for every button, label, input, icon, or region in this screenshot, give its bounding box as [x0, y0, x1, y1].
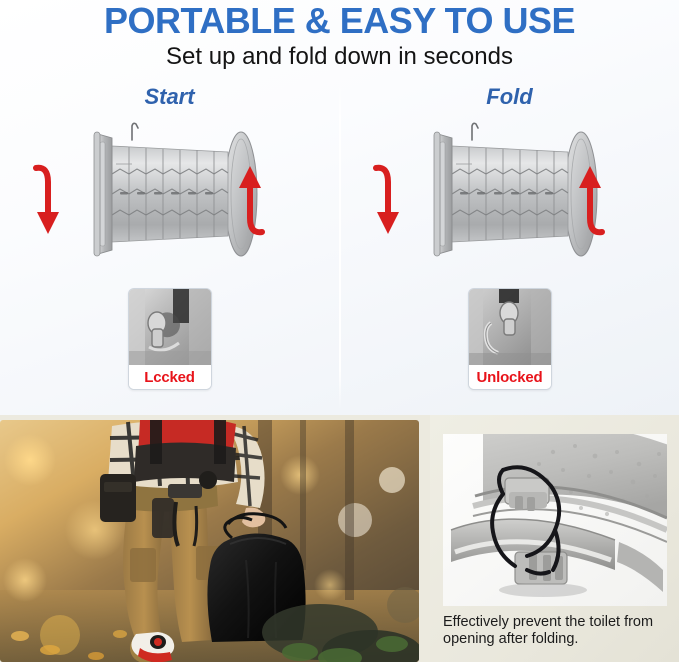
panel-fold: Fold [340, 80, 679, 415]
lock-state-caption: Unlocked [469, 366, 551, 389]
hiker-carrying-drawstring-bag-photo [0, 420, 419, 662]
page-title: PORTABLE & EASY TO USE [0, 1, 679, 41]
lock-state-inset-locked: Lccked [128, 288, 212, 390]
clip-feature-card: Effectively prevent the toilet from open… [430, 415, 679, 662]
bottom-section: Effectively prevent the toilet from open… [0, 415, 679, 662]
lock-latch-closed-icon [129, 289, 211, 365]
panel-label-start: Start [0, 84, 339, 110]
panel-label-fold: Fold [340, 84, 679, 110]
top-section: PORTABLE & EASY TO USE Set up and fold d… [0, 0, 679, 415]
arrow-down-icon [22, 160, 66, 240]
caption-line-2: opening after folding. [443, 631, 675, 648]
clip-feature-caption: Effectively prevent the toilet from open… [443, 614, 675, 648]
panel-start: Start [0, 80, 339, 415]
toilet-lid-clip-closeup-photo [443, 434, 667, 606]
lock-latch-open-icon [469, 289, 551, 365]
lock-state-caption: Lccked [129, 366, 211, 389]
page-subtitle: Set up and fold down in seconds [0, 42, 679, 72]
caption-line-1: Effectively prevent the toilet from [443, 614, 675, 631]
lock-state-inset-unlocked: Unlocked [468, 288, 552, 390]
infographic-page: PORTABLE & EASY TO USE Set up and fold d… [0, 0, 679, 662]
arrow-up-icon [572, 160, 616, 240]
arrow-down-icon [362, 160, 406, 240]
arrow-up-icon [232, 160, 276, 240]
